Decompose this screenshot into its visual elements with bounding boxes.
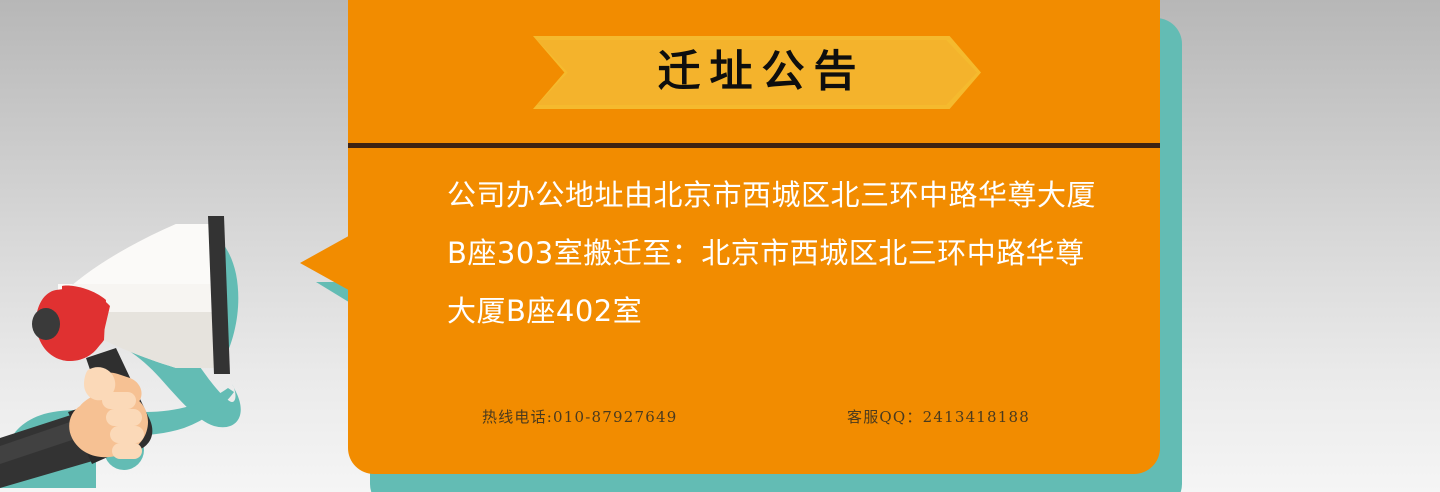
announcement-body: 公司办公地址由北京市西城区北三环中路华尊大厦B座303室搬迁至：北京市西城区北三… [447, 166, 1097, 340]
qq-text: 客服QQ：2413418188 [847, 406, 1030, 427]
megaphone-icon [0, 188, 300, 492]
announcement-banner: 迁址公告 公司办公地址由北京市西城区北三环中路华尊大厦B座303室搬迁至：北京市… [0, 0, 1440, 492]
hotline-text: 热线电话:010-87927649 [482, 406, 678, 427]
megaphone-illustration [0, 188, 300, 492]
header-divider [348, 143, 1160, 148]
speech-tail [300, 233, 354, 293]
page-title: 迁址公告 [533, 36, 981, 109]
contact-footer: 热线电话:010-87927649 客服QQ：2413418188 [447, 406, 1097, 432]
